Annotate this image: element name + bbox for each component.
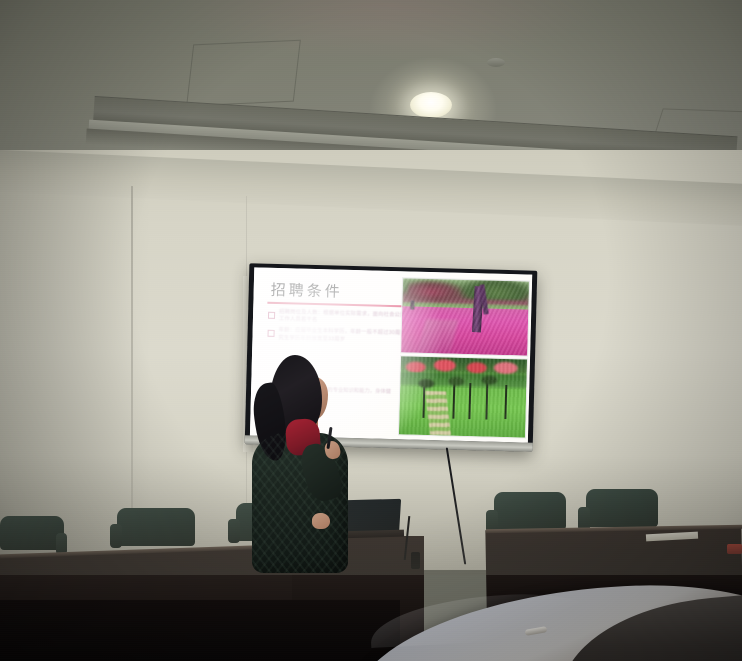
square-bullet-icon <box>267 330 274 337</box>
photo-scene: 招聘条件 招聘岗位及人数：根据单位实际需求，面向社会公开招聘工作人员若干名 年龄… <box>0 0 742 661</box>
presenter <box>248 355 358 570</box>
presenter-hand <box>312 513 330 529</box>
slide-photo-green-lawn <box>398 355 528 438</box>
slide-photo-pink-garden <box>400 277 530 356</box>
bullet-text: 年龄：应届毕业生本科学历，年龄一般不超过30周岁；研究生学历年龄放宽至33周岁 <box>278 327 417 345</box>
list-item: 招聘岗位及人数：根据单位实际需求，面向社会公开招聘工作人员若干名 <box>268 309 418 327</box>
square-bullet-icon <box>268 312 275 319</box>
slide-bullet-list: 招聘岗位及人数：根据单位实际需求，面向社会公开招聘工作人员若干名 年龄：应届毕业… <box>267 309 418 350</box>
foreground-shadow <box>0 600 400 661</box>
bullet-text: 招聘岗位及人数：根据单位实际需求，面向社会公开招聘工作人员若干名 <box>279 309 418 327</box>
slide-title: 招聘条件 <box>270 279 343 302</box>
list-item: 年龄：应届毕业生本科学历，年龄一般不超过30周岁；研究生学历年龄放宽至33周岁 <box>267 327 417 345</box>
ambient-shadow <box>0 455 742 575</box>
